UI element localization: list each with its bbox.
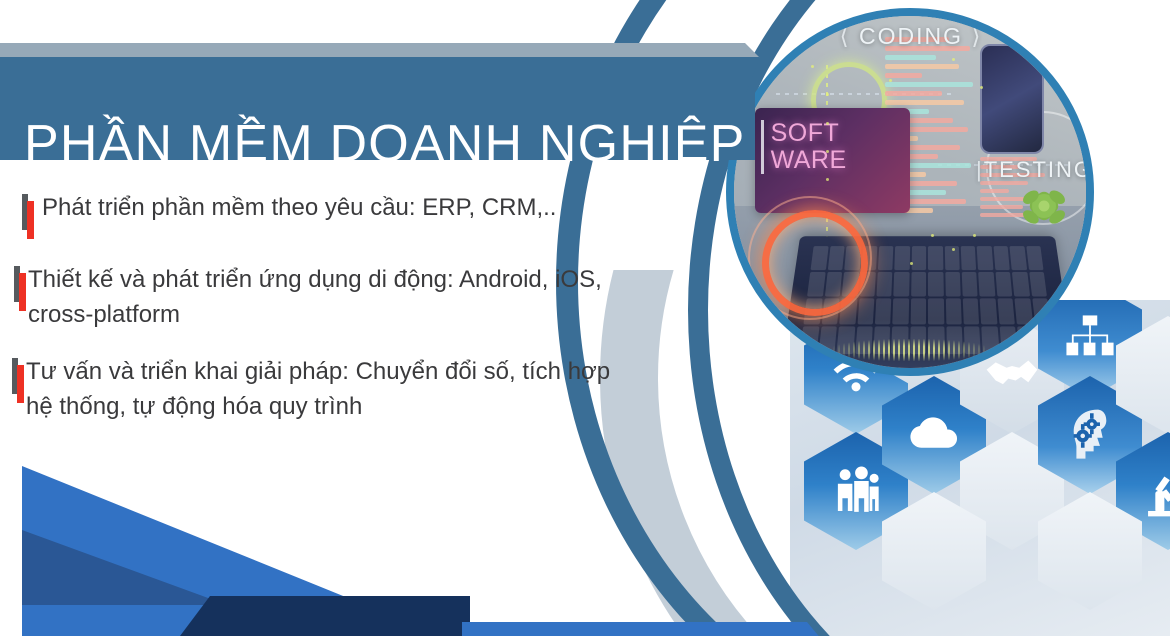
decor-navy-band [180,596,470,636]
header-accent-strip [0,43,760,58]
bullet-text: Tư vấn và triển khai giải pháp: Chuyển đ… [26,354,626,424]
bullet-list: Phát triển phần mềm theo yêu cầu: ERP, C… [0,190,640,446]
list-item: Phát triển phần mềm theo yêu cầu: ERP, C… [14,190,640,240]
bullet-text: Phát triển phần mềm theo yêu cầu: ERP, C… [36,190,556,225]
bullet-marker-icon [4,358,26,404]
photo-circle: SOFT WARE [726,8,1094,376]
page-title: PHẦN MỀM DOANH NGHIỆP [24,96,724,192]
list-item: Tư vấn và triển khai giải pháp: Chuyển đ… [4,354,640,424]
glow-dots [734,16,1086,368]
bullet-text: Thiết kế và phát triển ứng dụng di động:… [28,262,628,332]
decor-blue-bar-bottom [462,622,822,636]
bullet-marker-icon [14,194,36,240]
slide-root: SOFT WARE [0,0,1170,636]
bullet-marker-icon [6,266,28,312]
robot-arm-icon [1139,462,1170,520]
brain-gears-icon [1061,406,1119,464]
list-item: Thiết kế và phát triển ứng dụng di động:… [6,262,640,332]
